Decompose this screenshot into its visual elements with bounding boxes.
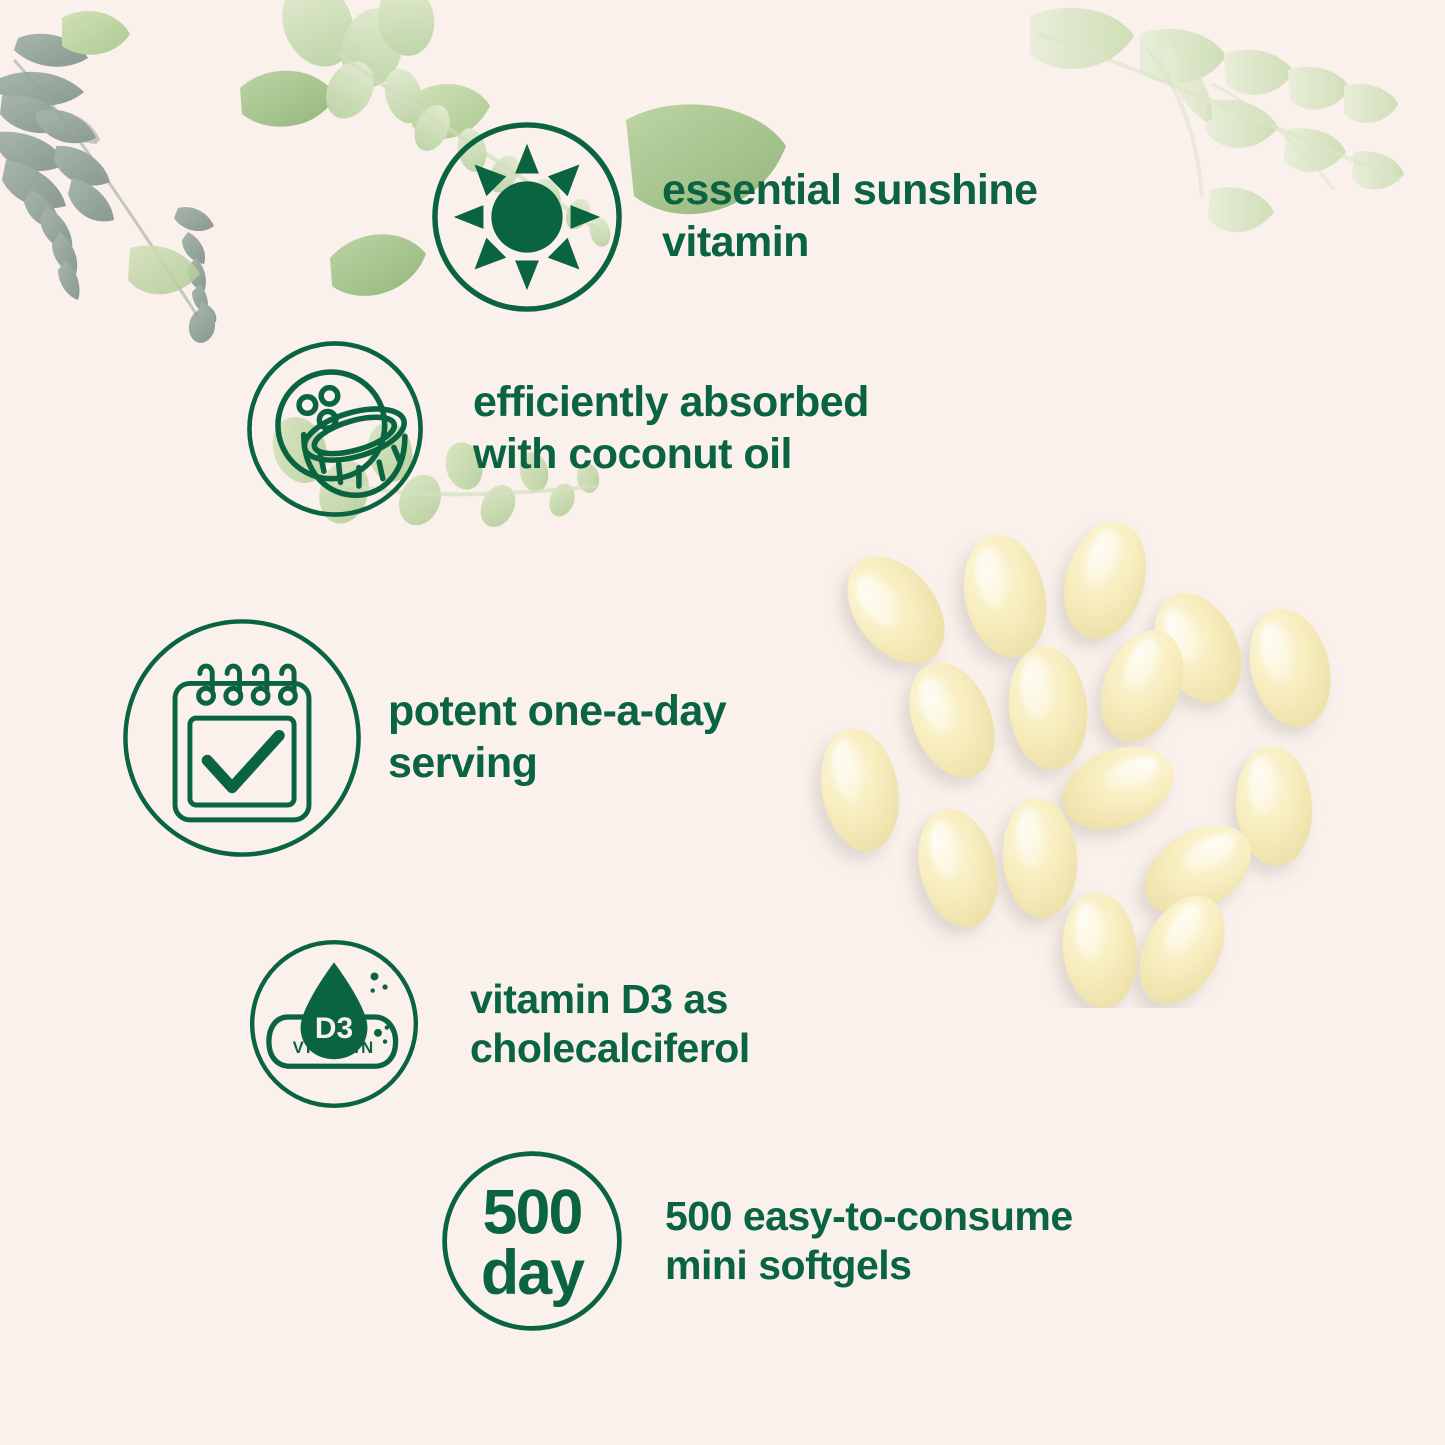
feature-label: essential sunshine vitamin [662, 165, 1037, 268]
feature-item-500-mini-softgels: 500 day 500 easy-to-consume mini softgel… [437, 1146, 1073, 1336]
badge-unit-label: day [481, 1238, 585, 1308]
badge-count-label: 500 [483, 1177, 582, 1247]
coconut-icon [243, 337, 427, 521]
feature-item-potent-one-a-day-serving: potent one-a-day serving [118, 614, 726, 862]
softgel-capsules-photo [800, 498, 1360, 1008]
sun-icon-badge [428, 118, 626, 316]
infographic-canvas: essential sunshine vitamin [0, 0, 1445, 1445]
vitamin-droplet-icon-badge: D3 VITAMIN [246, 936, 422, 1112]
coconut-icon-badge [243, 337, 427, 521]
500-day-badge-icon: 500 day [437, 1146, 627, 1336]
feature-item-efficiently-absorbed-coconut-oil: efficiently absorbed with coconut oil [243, 337, 869, 521]
sun-icon [428, 118, 626, 316]
feature-item-essential-sunshine-vitamin: essential sunshine vitamin [428, 118, 1037, 316]
feature-label: 500 easy-to-consume mini softgels [665, 1192, 1073, 1290]
feature-label: vitamin D3 as cholecalciferol [470, 975, 750, 1073]
feature-label: potent one-a-day serving [388, 686, 726, 789]
vitamin-droplet-icon: D3 VITAMIN [246, 936, 422, 1112]
feature-item-vitamin-d3-cholecalciferol: D3 VITAMIN vitamin D3 as cholecalciferol [246, 936, 750, 1112]
calendar-check-icon-badge [118, 614, 366, 862]
droplet-vitamin-label: VITAMIN [293, 1038, 376, 1057]
feature-label: efficiently absorbed with coconut oil [473, 377, 869, 480]
500-day-badge-icon-badge: 500 day [437, 1146, 627, 1336]
calendar-check-icon [118, 614, 366, 862]
